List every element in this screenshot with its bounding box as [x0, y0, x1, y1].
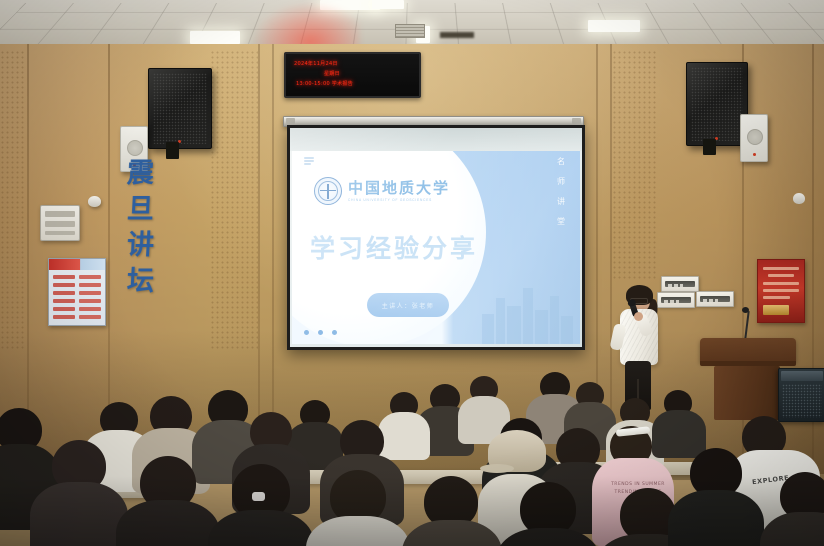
calligraphy-char-1: 震 — [126, 160, 154, 187]
gooseneck-mic-head-icon — [742, 307, 749, 313]
slide-vertical-char-1: 名 — [557, 157, 566, 166]
slide-university-name: 中国地质大学 — [348, 180, 450, 196]
ceiling-vent-icon — [395, 24, 425, 38]
speaker-bracket — [166, 142, 179, 159]
wall-panel-sign — [696, 291, 734, 307]
schedule-poster — [48, 258, 106, 326]
wall-calligraphy: 震 旦 讲 坛 — [112, 160, 168, 295]
face-mask-icon — [252, 492, 265, 501]
slide-vertical-text: 名 师 讲 堂 — [557, 157, 566, 226]
slide-vertical-char-3: 讲 — [557, 197, 566, 206]
presenter-hand — [634, 312, 643, 321]
loudspeaker-left-large — [148, 68, 212, 149]
slide-vertical-char-4: 堂 — [557, 217, 566, 226]
slide-dots-decoration — [304, 330, 337, 335]
person-torso — [208, 510, 314, 546]
security-camera-icon — [88, 196, 101, 207]
person-torso — [30, 482, 128, 546]
screen-upper-band — [290, 128, 582, 151]
slide-skyline-graphic — [480, 278, 576, 344]
speaker-bracket — [703, 139, 716, 155]
led-line-2: 星期日 — [324, 71, 340, 77]
ceiling-light — [372, 0, 404, 9]
person-torso — [378, 412, 430, 460]
slide-university-name-en: CHINA UNIVERSITY OF GEOSCIENCES — [348, 198, 450, 202]
slide-university-logo: 中国地质大学 CHINA UNIVERSITY OF GEOSCIENCES — [314, 177, 450, 205]
projection-screen: 中国地质大学 CHINA UNIVERSITY OF GEOSCIENCES 学… — [287, 125, 585, 350]
slide-corner-mark-icon — [304, 157, 314, 164]
calligraphy-char-3: 讲 — [126, 232, 154, 259]
audience: TRENDS IN SUMMER TRENDING CASES — [0, 372, 824, 546]
slide-presenter-pill: 主讲人：张老师 — [367, 293, 449, 317]
lecture-hall-photo: 2024年11月24日 星期日 13:00-15:00 学术报告 震 旦 讲 坛 — [0, 0, 824, 546]
calligraphy-char-4: 坛 — [126, 268, 154, 295]
person-torso — [668, 490, 764, 546]
calligraphy-char-2: 旦 — [126, 196, 154, 223]
red-notice-poster — [757, 259, 805, 323]
security-camera-icon — [793, 193, 805, 204]
loudspeaker-right-small — [740, 114, 768, 162]
slide-title: 学习经验分享 — [310, 235, 478, 262]
screen-surface: 中国地质大学 CHINA UNIVERSITY OF GEOSCIENCES 学… — [290, 128, 582, 347]
ceiling-light — [588, 20, 640, 32]
person-torso — [116, 500, 220, 546]
baseball-cap — [488, 430, 546, 472]
led-marquee-sign: 2024年11月24日 星期日 13:00-15:00 学术报告 — [284, 52, 421, 98]
ceiling-light — [190, 31, 240, 44]
led-line-1: 2024年11月24日 — [294, 61, 338, 67]
university-seal-icon — [314, 177, 342, 205]
loudspeaker-right-large — [686, 62, 748, 146]
person-torso — [652, 410, 706, 458]
pink-jacket-text-line1: TRENDS IN SUMMER — [608, 482, 668, 488]
wall-control-box[interactable] — [40, 205, 80, 241]
led-line-3: 13:00-15:00 学术报告 — [296, 81, 353, 87]
presentation-slide: 中国地质大学 CHINA UNIVERSITY OF GEOSCIENCES 学… — [292, 151, 580, 344]
ceiling-gap — [440, 32, 474, 38]
lectern-top — [700, 338, 796, 362]
slide-vertical-char-2: 师 — [557, 177, 566, 186]
